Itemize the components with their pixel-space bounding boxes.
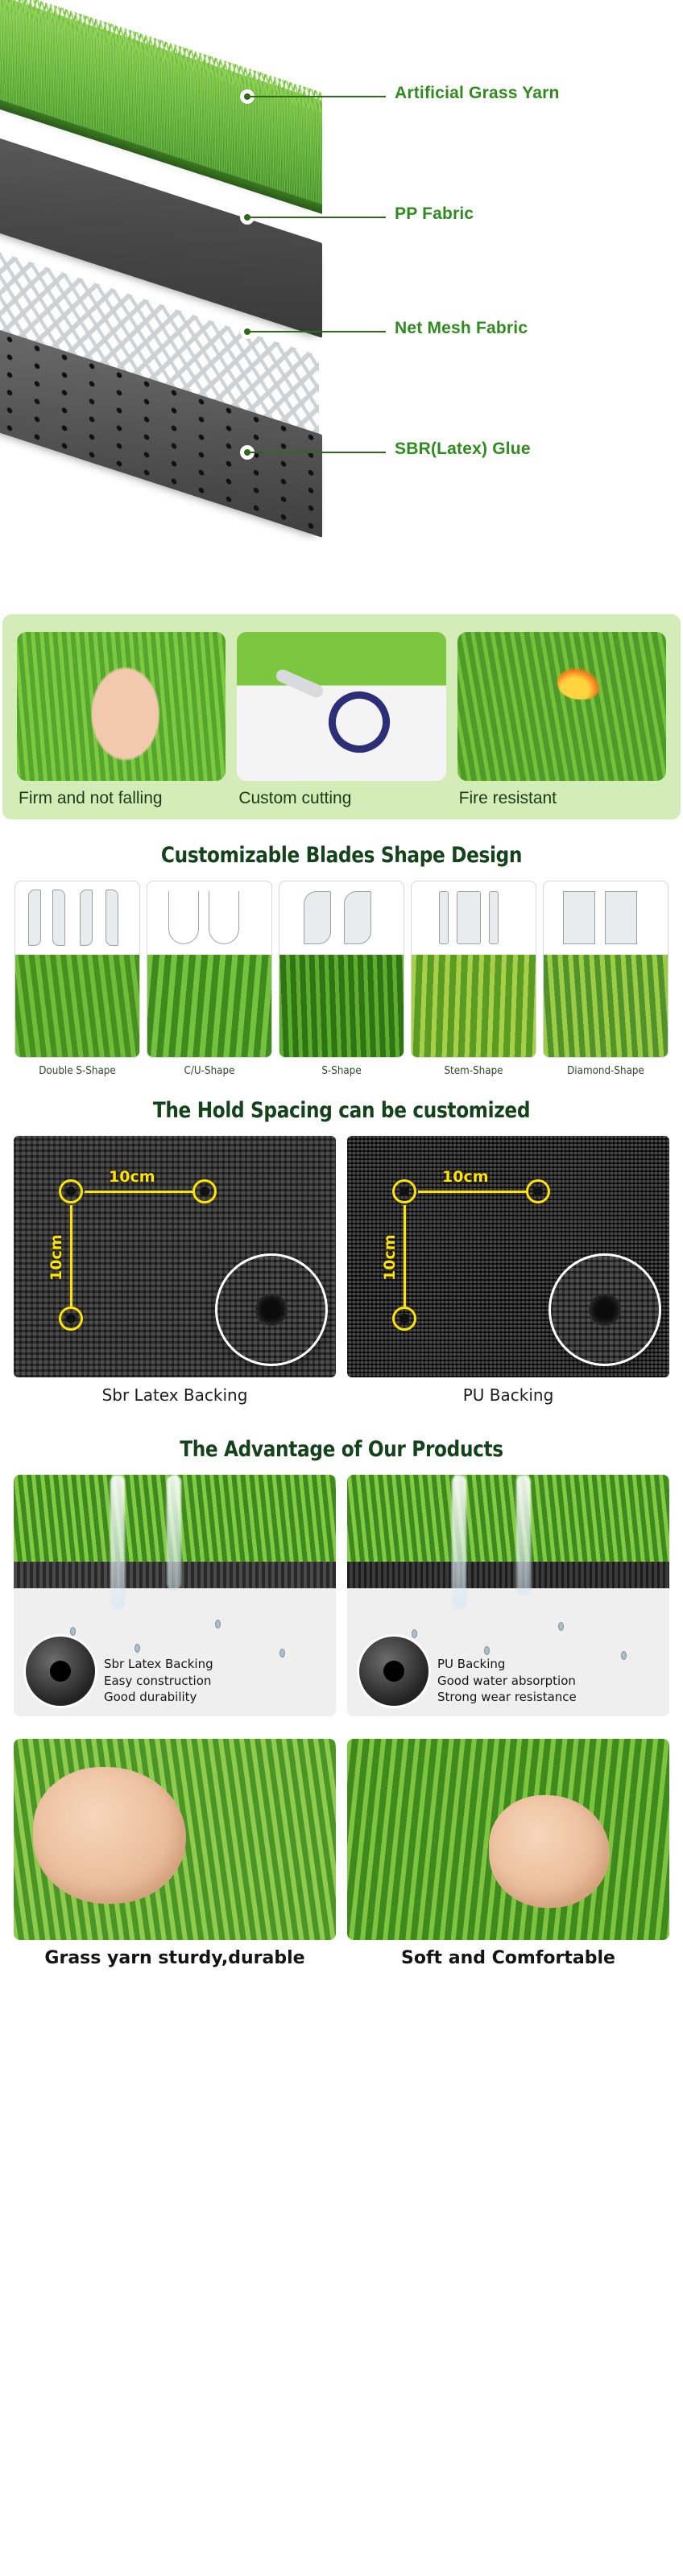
blade-cell-c-u: C/U-Shape <box>147 881 272 1077</box>
callout-leader-line <box>247 331 386 332</box>
pu-backing-hole-image: 10cm 10cm <box>347 1136 669 1377</box>
layer-structure-section: Artificial Grass Yarn PP Fabric Net Mesh… <box>0 0 683 612</box>
blade-label-2: S-Shape <box>284 1065 399 1077</box>
bottom-card-sturdy: Grass yarn sturdy,durable <box>14 1739 336 1968</box>
hole-ring-icon <box>59 1179 83 1203</box>
feature-card-cutting: Custom cutting <box>237 632 445 808</box>
hole-spacing-row: 10cm 10cm Sbr Latex Backing 10cm 10cm <box>0 1136 683 1405</box>
advantage-card-sbr: Sbr Latex Backing Easy construction Good… <box>14 1475 336 1716</box>
blade-cell-stem: Stem-Shape <box>411 881 536 1077</box>
advantage-name-0: Sbr Latex Backing <box>104 1656 213 1672</box>
callout-label-2: Net Mesh Fabric <box>395 319 528 338</box>
advantage-name-1: PU Backing <box>437 1656 577 1672</box>
blade-cell-double-s: Double S-Shape <box>14 881 140 1077</box>
advantage-text-1: PU Backing Good water absorption Strong … <box>437 1656 577 1705</box>
bottom-caption-1: Soft and Comfortable <box>347 1948 669 1968</box>
spacing-caption-0: Sbr Latex Backing <box>14 1385 336 1405</box>
water-drip-icon <box>135 1644 140 1653</box>
blade-cell-s: S-Shape <box>279 881 404 1077</box>
horizontal-dimension-arrow <box>418 1191 528 1193</box>
hand-icon <box>33 1767 186 1904</box>
double-s-shape-photo <box>14 955 140 1058</box>
hole-ring-icon <box>192 1179 217 1203</box>
finger-pull-icon <box>17 632 226 781</box>
callout-label-1: PP Fabric <box>395 204 474 224</box>
advantage-line-1-1: Strong wear resistance <box>437 1689 577 1705</box>
hole-ring-icon <box>526 1179 550 1203</box>
water-drip-icon <box>484 1646 490 1655</box>
sbr-drainage-image: Sbr Latex Backing Easy construction Good… <box>14 1475 336 1716</box>
vertical-dimension-arrow <box>404 1205 406 1308</box>
diamond-shape-photo <box>543 955 669 1058</box>
callout-leader-line <box>247 96 386 97</box>
flame-icon <box>457 632 666 781</box>
water-drip-icon <box>215 1620 221 1629</box>
turf-texture <box>347 1475 669 1562</box>
product-infographic-page: Artificial Grass Yarn PP Fabric Net Mesh… <box>0 0 683 1976</box>
dim-horizontal-0: 10cm <box>109 1168 155 1186</box>
diamond-shape-icon <box>543 881 669 955</box>
water-stream-icon <box>452 1475 466 1610</box>
advantage-text-0: Sbr Latex Backing Easy construction Good… <box>104 1656 213 1705</box>
bottom-photo-row: Grass yarn sturdy,durable Soft and Comfo… <box>0 1739 683 1968</box>
advantage-line-0-1: Good durability <box>104 1689 213 1705</box>
grass-soft-image <box>347 1739 669 1940</box>
dim-vertical-0: 10cm <box>48 1234 65 1281</box>
advantage-section: The Advantage of Our Products Sbr Latex … <box>0 1416 683 1724</box>
water-stream-icon <box>167 1475 181 1591</box>
water-drip-icon <box>558 1622 564 1631</box>
dim-vertical-1: 10cm <box>381 1234 399 1281</box>
scissors-icon <box>237 632 445 781</box>
feature-highlights-section: Firm and not falling Custom cutting Fire… <box>0 612 683 822</box>
hand-icon <box>489 1795 610 1908</box>
backing-strip <box>347 1562 669 1588</box>
stem-shape-icon <box>411 881 536 955</box>
s-shape-icon <box>279 881 404 955</box>
backing-closeup-bubble <box>23 1634 97 1708</box>
blade-label-3: Stem-Shape <box>416 1065 532 1077</box>
hole-spacing-section: The Hold Spacing can be customized 10cm … <box>0 1082 683 1416</box>
blade-shape-row: Double S-Shape C/U-Shape S-Shape <box>0 881 683 1077</box>
hole-ring-icon <box>392 1307 416 1331</box>
blade-label-4: Diamond-Shape <box>548 1065 664 1077</box>
spacing-card-pu: 10cm 10cm PU Backing <box>347 1136 669 1405</box>
feature-caption-2: Fire resistant <box>457 789 666 808</box>
advantage-title: The Advantage of Our Products <box>48 1437 635 1462</box>
stem-shape-photo <box>411 955 536 1058</box>
magnifier-circle <box>215 1253 328 1366</box>
horizontal-dimension-arrow <box>85 1191 194 1193</box>
hole-ring-icon <box>392 1179 416 1203</box>
c-u-shape-photo <box>147 955 272 1058</box>
feature-card-fire: Fire resistant <box>457 632 666 808</box>
c-u-shape-icon <box>147 881 272 955</box>
hole-spacing-title: The Hold Spacing can be customized <box>48 1098 635 1123</box>
vertical-dimension-arrow <box>70 1205 72 1308</box>
bottom-caption-0: Grass yarn sturdy,durable <box>14 1948 336 1968</box>
backing-closeup-bubble <box>357 1634 431 1708</box>
callout-leader-line <box>247 452 386 453</box>
blade-shapes-title: Customizable Blades Shape Design <box>48 843 635 868</box>
grass-sturdy-image <box>14 1739 336 1940</box>
callout-label-0: Artificial Grass Yarn <box>395 84 560 103</box>
water-drip-icon <box>412 1629 417 1638</box>
double-s-shape-icon <box>14 881 140 955</box>
sbr-backing-hole-image: 10cm 10cm <box>14 1136 336 1377</box>
water-drip-icon <box>279 1649 285 1657</box>
bottom-photos-section: Grass yarn sturdy,durable Soft and Comfo… <box>0 1724 683 1976</box>
callout-leader-line <box>247 217 386 218</box>
advantage-card-pu: PU Backing Good water absorption Strong … <box>347 1475 669 1716</box>
spacing-caption-1: PU Backing <box>347 1385 669 1405</box>
pu-drainage-image: PU Backing Good water absorption Strong … <box>347 1475 669 1716</box>
bottom-card-soft: Soft and Comfortable <box>347 1739 669 1968</box>
feature-caption-0: Firm and not falling <box>17 789 226 808</box>
feature-card-firm: Firm and not falling <box>17 632 226 808</box>
water-drip-icon <box>70 1627 76 1636</box>
feature-card-row: Firm and not falling Custom cutting Fire… <box>17 632 666 808</box>
callout-label-3: SBR(Latex) Glue <box>395 440 531 459</box>
exploded-layer-stack <box>0 0 379 612</box>
spacing-card-sbr: 10cm 10cm Sbr Latex Backing <box>14 1136 336 1405</box>
dim-horizontal-1: 10cm <box>442 1168 489 1186</box>
advantage-line-1-0: Good water absorption <box>437 1673 577 1689</box>
blade-cell-diamond: Diamond-Shape <box>543 881 669 1077</box>
water-stream-icon <box>516 1475 531 1596</box>
blade-shapes-section: Customizable Blades Shape Design Double … <box>0 822 683 1082</box>
water-stream-icon <box>110 1475 125 1610</box>
advantage-line-0-0: Easy construction <box>104 1673 213 1689</box>
magnifier-circle <box>548 1253 661 1366</box>
s-shape-photo <box>279 955 404 1058</box>
feature-caption-1: Custom cutting <box>237 789 445 808</box>
advantage-row: Sbr Latex Backing Easy construction Good… <box>0 1475 683 1716</box>
blade-label-1: C/U-Shape <box>151 1065 267 1077</box>
hole-ring-icon <box>59 1307 83 1331</box>
blade-label-0: Double S-Shape <box>19 1065 135 1077</box>
water-drip-icon <box>621 1651 627 1660</box>
